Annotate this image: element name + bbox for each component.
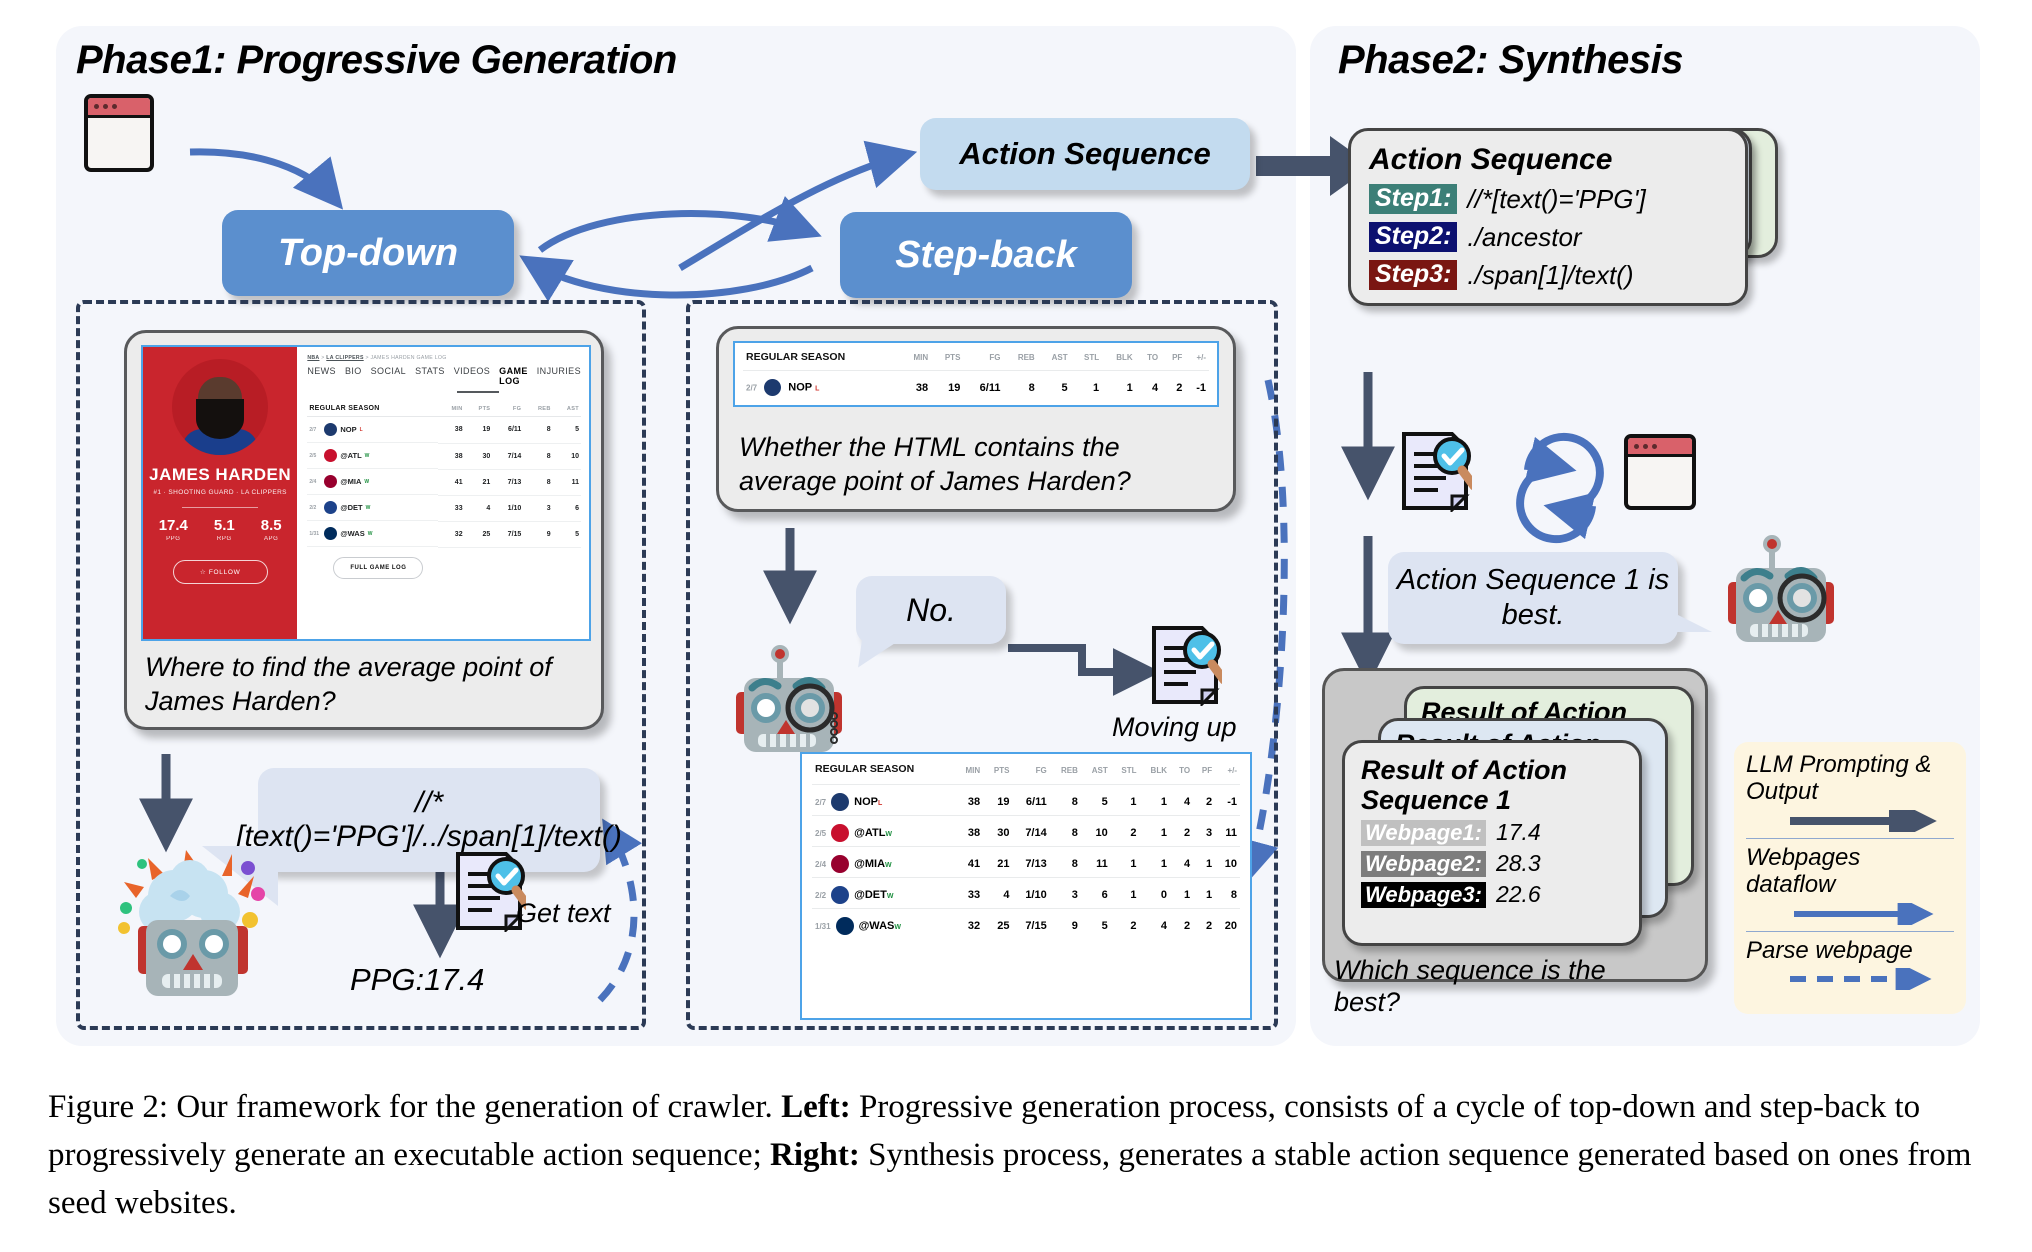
best-sequence-bubble: Action Sequence 1 is best. [1388, 552, 1678, 644]
cell-pf: 1 [1193, 847, 1215, 878]
cell-plusminus: 20 [1215, 909, 1240, 940]
table-row: 2/7NOPL 38196/11851142-1 [812, 785, 1240, 816]
col-to: TO [1170, 760, 1193, 785]
opponent: @ATL [340, 451, 361, 460]
col-fg: FG [1012, 760, 1049, 785]
table-row: 2/7 NOP L 38 19 6/11 8 5 1 1 4 2 -1 [743, 371, 1209, 401]
table-header-row: REGULAR SEASON MIN PTS FG REB AST [307, 401, 581, 417]
action-sequence-stack: Action Sequence Action Sequence Action S… [1348, 128, 1778, 348]
team-logo-icon [831, 886, 849, 904]
step1-value: //*[text()='PPG'] [1467, 184, 1645, 215]
xpath-bubble: //*[text()='PPG']/../span[1]/text() [258, 768, 600, 872]
cell-pf: 3 [1193, 816, 1215, 847]
col-pts: PTS [931, 348, 963, 371]
espn-content: NBA > LA CLIPPERS > JAMES HARDEN GAME LO… [297, 347, 589, 639]
cell-pf: 2 [1193, 909, 1215, 940]
webpage1-value: 17.4 [1496, 819, 1541, 846]
result-question: Which sequence is the best? [1334, 954, 1654, 1019]
col-fg: FG [963, 348, 1003, 371]
llm-robot-exploding-icon [118, 850, 266, 1000]
game-cell: 2/5@ATLW [307, 443, 438, 469]
mini-game-log: REGULAR SEASON MIN PTS FG REB AST STL BL… [733, 341, 1219, 407]
webpage-row-2: Webpage2: 28.3 [1361, 850, 1623, 877]
table-row: 2/5@ATLW 38 30 7/14 8 10 [307, 443, 581, 469]
game-cell: 2/2@DETW [812, 878, 955, 909]
browser-titlebar [88, 98, 150, 118]
cell-ast: 10 [1081, 816, 1111, 847]
game-cell: 2/7NOPL [307, 417, 438, 443]
cell-plusminus: -1 [1185, 371, 1209, 401]
espn-tab-bar[interactable]: NEWS BIO SOCIAL STATS VIDEOS GAME LOG IN… [307, 366, 581, 386]
result-card[interactable]: Result of Action Sequence 1 Webpage1: 17… [1342, 740, 1642, 946]
legend-arrow-webpages [1746, 903, 1954, 925]
col-min: MIN [438, 401, 465, 417]
game-date: 2/5 [309, 453, 321, 459]
game-date: 2/4 [815, 860, 826, 869]
cell-min: 38 [900, 371, 931, 401]
table-row: 1/31@WASW 32 25 7/15 9 5 [307, 521, 581, 547]
table-row: 2/4@MIAW 41 21 7/13 8 11 [307, 469, 581, 495]
cell-fg: 1/10 [492, 495, 523, 521]
cell-reb: 8 [1050, 816, 1081, 847]
col-pf: PF [1161, 348, 1185, 371]
team-logo-icon [324, 423, 337, 436]
stat-apg: 8.5 APG [261, 517, 282, 542]
cell-blk: 1 [1139, 847, 1170, 878]
table-header-row: REGULAR SEASON MIN PTS FG REB AST STL BL… [743, 348, 1209, 371]
stat-key: APG [261, 536, 282, 542]
cell-min: 38 [955, 816, 983, 847]
opponent: NOP [340, 425, 356, 434]
cell-plusminus: 10 [1215, 847, 1240, 878]
table-row: 2/2@DETW 3341/103610118 [812, 878, 1240, 909]
webpage2-tag: Webpage2: [1361, 851, 1486, 877]
espn-page-card: JAMES HARDEN #1 · SHOOTING GUARD · LA CL… [124, 330, 604, 730]
game-cell: 2/5@ATLW [812, 816, 955, 847]
opponent: @WAS [859, 920, 895, 932]
tab-game-log[interactable]: GAME LOG [499, 366, 528, 386]
webpage2-value: 28.3 [1496, 850, 1541, 877]
game-date: 1/31 [309, 531, 321, 537]
opponent: @DET [340, 503, 362, 512]
step2-value: ./ancestor [1467, 222, 1581, 253]
cell-reb: 9 [1050, 909, 1081, 940]
col-ast: AST [553, 401, 581, 417]
cell-fg: 7/15 [492, 521, 523, 547]
col-reb: REB [523, 401, 552, 417]
col-stl: STL [1111, 760, 1140, 785]
cell-pts: 21 [983, 847, 1012, 878]
action-sequence-card-title: Action Sequence [1369, 143, 1727, 177]
cell-min: 33 [955, 878, 983, 909]
divider [182, 507, 258, 508]
action-sequence-box[interactable]: Action Sequence [920, 118, 1250, 190]
cell-min: 41 [955, 847, 983, 878]
cell-pts: 4 [465, 495, 493, 521]
step-back-question: Whether the HTML contains the average po… [739, 431, 1219, 499]
get-text-label: Get text [516, 898, 611, 929]
step-row-2: Step2: ./ancestor [1369, 222, 1727, 253]
espn-webpage[interactable]: JAMES HARDEN #1 · SHOOTING GUARD · LA CL… [141, 345, 591, 641]
col-to: TO [1136, 348, 1161, 371]
cell-pts: 19 [465, 417, 493, 444]
cell-reb: 8 [523, 417, 552, 444]
tab-videos[interactable]: VIDEOS [454, 366, 490, 386]
cell-plusminus: 11 [1215, 816, 1240, 847]
table-row: 2/2@DETW 33 4 1/10 3 6 [307, 495, 581, 521]
col-regular-season: REGULAR SEASON [307, 401, 438, 417]
cell-blk: 1 [1102, 371, 1136, 401]
col-pf: PF [1193, 760, 1215, 785]
col-min: MIN [955, 760, 983, 785]
legend-label-llm: LLM Prompting & Output [1746, 752, 1954, 806]
stat-key: RPG [214, 536, 235, 542]
step1-tag: Step1: [1369, 184, 1457, 214]
tab-news[interactable]: NEWS [307, 366, 336, 386]
verify-document-icon [1398, 430, 1472, 512]
cell-stl: 1 [1071, 371, 1103, 401]
col-min: MIN [900, 348, 931, 371]
cell-reb: 3 [523, 495, 552, 521]
cell-to: 4 [1170, 847, 1193, 878]
full-game-log-button[interactable]: FULL GAME LOG [333, 557, 423, 579]
cell-min: 38 [438, 417, 465, 444]
cell-min: 32 [955, 909, 983, 940]
result-stack: Result of Action Sequence 1 Result of Ac… [1348, 686, 1788, 1004]
cell-fg: 7/14 [1012, 816, 1049, 847]
cell-pts: 4 [983, 878, 1012, 909]
cell-reb: 9 [523, 521, 552, 547]
col-regular-season: REGULAR SEASON [812, 760, 955, 785]
webpage1-tag: Webpage1: [1361, 820, 1486, 846]
opponent: NOP [788, 381, 812, 393]
step2-tag: Step2: [1369, 222, 1457, 252]
game-date: 2/7 [815, 798, 826, 807]
result: W [894, 924, 901, 931]
cell-to: 4 [1136, 371, 1161, 401]
cell-min: 38 [438, 443, 465, 469]
moving-up-document-icon [1148, 624, 1222, 706]
team-logo-icon [324, 501, 337, 514]
opponent: @MIA [854, 858, 885, 870]
table-row: 2/7NOPL 38 19 6/11 8 5 [307, 417, 581, 444]
cell-pts: 30 [983, 816, 1012, 847]
active-tab-underline [457, 391, 499, 393]
cell-reb: 8 [1050, 785, 1081, 816]
result: L [360, 427, 363, 433]
cell-fg: 6/11 [492, 417, 523, 444]
cell-pts: 19 [983, 785, 1012, 816]
result: W [366, 505, 371, 511]
game-date: 2/2 [815, 891, 826, 900]
cell-plusminus: -1 [1215, 785, 1240, 816]
cell-fg: 7/13 [1012, 847, 1049, 878]
llm-robot-judging-icon [1718, 532, 1850, 650]
opponent: NOP [854, 796, 878, 808]
stat-value: 5.1 [214, 517, 235, 534]
phase2-title: Phase2: Synthesis [1338, 38, 1683, 83]
game-date: 2/2 [309, 505, 321, 511]
breadcrumb-item-team[interactable]: LA CLIPPERS [326, 355, 363, 361]
cell-blk: 1 [1139, 785, 1170, 816]
cell-reb: 3 [1050, 878, 1081, 909]
cell-ast: 5 [553, 521, 581, 547]
legend-arrow-llm [1746, 810, 1954, 832]
result: W [364, 479, 369, 485]
cell-pf: 2 [1193, 785, 1215, 816]
cell-fg: 6/11 [963, 371, 1003, 401]
step-back-box[interactable]: Step-back [840, 212, 1132, 298]
game-cell: 2/4@MIAW [307, 469, 438, 495]
cell-reb: 8 [523, 443, 552, 469]
player-avatar [172, 359, 268, 455]
cell-pts: 21 [465, 469, 493, 495]
stat-rpg: 5.1 RPG [214, 517, 235, 542]
legend-label-webpages: Webpages dataflow [1746, 845, 1954, 899]
opponent: @WAS [340, 529, 364, 538]
cell-to: 4 [1170, 785, 1193, 816]
step3-tag: Step3: [1369, 260, 1457, 290]
result: W [887, 893, 894, 900]
cell-to: 2 [1170, 909, 1193, 940]
cell-stl: 1 [1111, 785, 1140, 816]
tab-social[interactable]: SOCIAL [371, 366, 406, 386]
espn-player-hero: JAMES HARDEN #1 · SHOOTING GUARD · LA CL… [143, 347, 297, 639]
col-plusminus: +/- [1185, 348, 1209, 371]
opponent: @MIA [340, 477, 361, 486]
step-row-3: Step3: ./span[1]/text() [1369, 260, 1727, 291]
caption-left-bold: Left: [781, 1089, 851, 1125]
llm-robot-inspecting-icon [724, 640, 860, 758]
legend-divider [1746, 931, 1954, 932]
webpage3-value: 22.6 [1496, 881, 1541, 908]
breadcrumb-item-nba[interactable]: NBA [307, 355, 319, 361]
parse-document-icon [452, 850, 526, 932]
result: W [365, 453, 370, 459]
cell-stl: 2 [1111, 909, 1140, 940]
cell-min: 38 [955, 785, 983, 816]
full-game-log-table: REGULAR SEASON MIN PTS FG REB AST STL BL… [800, 752, 1252, 1020]
cell-min: 41 [438, 469, 465, 495]
stat-key: PPG [159, 536, 188, 542]
game-date: 2/4 [309, 479, 321, 485]
game-cell: 2/7NOPL [812, 785, 955, 816]
webpage3-tag: Webpage3: [1361, 882, 1486, 908]
cell-ast: 5 [1081, 909, 1111, 940]
game-date: 1/31 [815, 922, 831, 931]
cell-fg: 6/11 [1012, 785, 1049, 816]
cell-pf: 1 [1193, 878, 1215, 909]
tab-bio[interactable]: BIO [345, 366, 362, 386]
cell-stl: 1 [1111, 847, 1140, 878]
table-row: 1/31@WASW 32257/1595242220 [812, 909, 1240, 940]
cell-ast: 11 [553, 469, 581, 495]
cell-ast: 6 [1081, 878, 1111, 909]
cell-fg: 7/15 [1012, 909, 1049, 940]
cell-blk: 4 [1139, 909, 1170, 940]
cell-ast: 5 [1038, 371, 1071, 401]
cell-blk: 0 [1139, 878, 1170, 909]
result-card-title: Result of Action Sequence 1 [1361, 755, 1623, 815]
moving-up-label: Moving up [1112, 712, 1237, 743]
cell-to: 2 [1170, 816, 1193, 847]
legend-item-webpages: Webpages dataflow [1746, 845, 1954, 925]
player-stats: 17.4 PPG 5.1 RPG 8.5 APG [159, 517, 282, 542]
webpage-row-3: Webpage3: 22.6 [1361, 881, 1623, 908]
caption-prefix: Figure 2: Our framework for the generati… [48, 1089, 781, 1125]
ppg-result-label: PPG:17.4 [350, 962, 484, 998]
col-pts: PTS [465, 401, 493, 417]
team-logo-icon [324, 527, 337, 540]
cell-ast: 6 [553, 495, 581, 521]
result: W [368, 531, 373, 537]
legend-item-llm: LLM Prompting & Output [1746, 752, 1954, 832]
top-down-box[interactable]: Top-down [222, 210, 514, 296]
legend-item-parse: Parse webpage [1746, 938, 1954, 991]
webpage-row-1: Webpage1: 17.4 [1361, 819, 1623, 846]
table-row: 2/5@ATLW 38307/14810212311 [812, 816, 1240, 847]
team-logo-icon [764, 379, 781, 396]
tab-stats[interactable]: STATS [415, 366, 445, 386]
legend-divider [1746, 838, 1954, 839]
step3-value: ./span[1]/text() [1467, 260, 1633, 291]
cell-reb: 8 [523, 469, 552, 495]
col-blk: BLK [1102, 348, 1136, 371]
cell-ast: 11 [1081, 847, 1111, 878]
breadcrumb[interactable]: NBA > LA CLIPPERS > JAMES HARDEN GAME LO… [307, 355, 581, 361]
answer-bubble-no: No. [856, 576, 1006, 644]
cell-ast: 5 [553, 417, 581, 444]
browser-titlebar [1628, 438, 1692, 457]
cell-min: 33 [438, 495, 465, 521]
cell-fg: 7/14 [492, 443, 523, 469]
game-date: 2/7 [746, 383, 757, 392]
col-stl: STL [1071, 348, 1103, 371]
col-pts: PTS [983, 760, 1012, 785]
cell-stl: 1 [1111, 878, 1140, 909]
col-blk: BLK [1139, 760, 1170, 785]
col-reb: REB [1003, 348, 1037, 371]
table-row: 2/4@MIAW 41217/13811114110 [812, 847, 1240, 878]
col-fg: FG [492, 401, 523, 417]
phase1-title: Phase1: Progressive Generation [76, 38, 677, 83]
cell-fg: 1/10 [1012, 878, 1049, 909]
result: W [885, 862, 892, 869]
col-ast: AST [1081, 760, 1111, 785]
breadcrumb-item-current: JAMES HARDEN GAME LOG [371, 355, 447, 361]
step-back-card: REGULAR SEASON MIN PTS FG REB AST STL BL… [716, 326, 1236, 512]
col-ast: AST [1038, 348, 1071, 371]
step-row-1: Step1: //*[text()='PPG'] [1369, 184, 1727, 215]
result: L [878, 800, 882, 807]
cell-ast: 10 [553, 443, 581, 469]
stat-value: 8.5 [261, 517, 282, 534]
legend-label-parse: Parse webpage [1746, 938, 1954, 965]
team-logo-icon [324, 449, 337, 462]
player-name: JAMES HARDEN [149, 465, 291, 485]
col-plusminus: +/- [1215, 760, 1240, 785]
table-header-row: REGULAR SEASON MIN PTS FG REB AST STL BL… [812, 760, 1240, 785]
team-logo-icon [831, 793, 849, 811]
figure-caption: Figure 2: Our framework for the generati… [48, 1084, 1988, 1228]
cell-plusminus: 8 [1215, 878, 1240, 909]
cell-fg: 7/13 [492, 469, 523, 495]
stat-ppg: 17.4 PPG [159, 517, 188, 542]
framework-figure: Phase1: Progressive Generation Phase2: S… [0, 0, 2032, 1060]
game-date: 2/5 [815, 829, 826, 838]
cell-stl: 2 [1111, 816, 1140, 847]
cell-ast: 5 [1081, 785, 1111, 816]
col-regular-season: REGULAR SEASON [743, 348, 900, 371]
cell-blk: 1 [1139, 816, 1170, 847]
col-reb: REB [1050, 760, 1081, 785]
seed-website-icon [84, 94, 154, 172]
stat-value: 17.4 [159, 517, 188, 534]
top-down-question: Where to find the average point of James… [145, 651, 595, 719]
cell-pf: 2 [1161, 371, 1185, 401]
game-log-table: REGULAR SEASON MIN PTS FG REB AST 2/7NOP… [307, 401, 581, 548]
cell-pts: 25 [983, 909, 1012, 940]
cell-to: 1 [1170, 878, 1193, 909]
game-cell: 2/2@DETW [307, 495, 438, 521]
webpage-browser-icon [1624, 434, 1696, 510]
cell-pts: 25 [465, 521, 493, 547]
opponent: @DET [854, 889, 887, 901]
follow-button[interactable]: ☆ FOLLOW [173, 560, 268, 584]
legend-arrow-parse [1746, 968, 1954, 990]
action-sequence-card[interactable]: Action Sequence Step1: //*[text()='PPG']… [1348, 128, 1748, 306]
game-cell: 2/4@MIAW [812, 847, 955, 878]
team-logo-icon [324, 475, 337, 488]
player-meta: #1 · SHOOTING GUARD · LA CLIPPERS [153, 489, 286, 496]
team-logo-icon [831, 824, 849, 842]
opponent: @ATL [854, 827, 885, 839]
cell-pts: 19 [931, 371, 963, 401]
team-logo-icon [836, 917, 854, 935]
game-date: 2/7 [309, 427, 321, 433]
cell-reb: 8 [1050, 847, 1081, 878]
tab-injuries[interactable]: INJURIES [537, 366, 581, 386]
legend-box: LLM Prompting & Output Webpages dataflow… [1734, 742, 1966, 1014]
result: W [885, 831, 892, 838]
game-cell: 1/31@WASW [812, 909, 955, 940]
cell-reb: 8 [1003, 371, 1037, 401]
team-logo-icon [831, 855, 849, 873]
cell-min: 32 [438, 521, 465, 547]
cell-pts: 30 [465, 443, 493, 469]
result: L [815, 385, 819, 392]
game-cell: 2/7 NOP L [743, 371, 900, 401]
game-cell: 1/31@WASW [307, 521, 438, 547]
caption-right-bold: Right: [770, 1137, 860, 1173]
